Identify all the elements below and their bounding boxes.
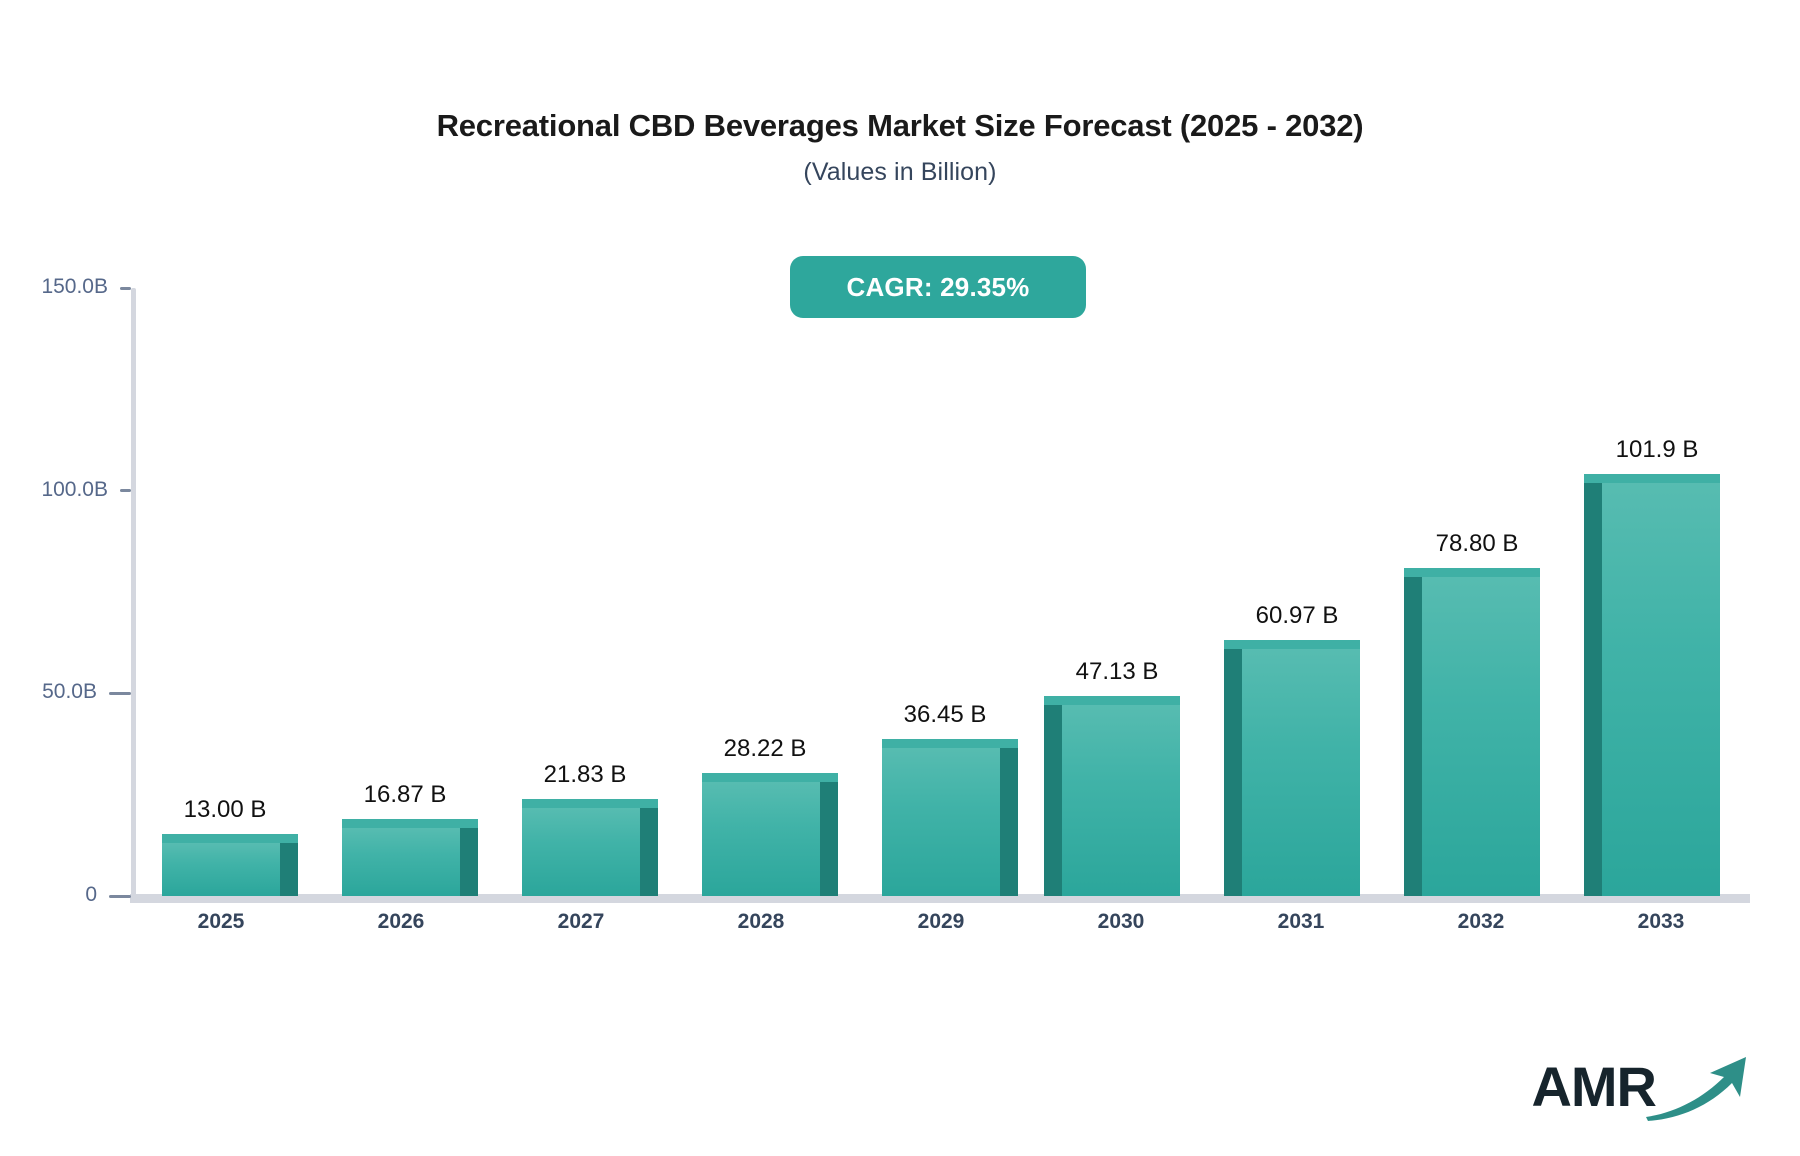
chart-title: Recreational CBD Beverages Market Size F… [0,108,1800,144]
bar-front-face [702,782,820,896]
bar-2030[interactable] [1062,705,1180,896]
chart-subtitle: (Values in Billion) [0,158,1800,187]
bar-2026[interactable] [342,828,460,896]
x-axis-label-2031: 2031 [1201,910,1401,934]
bar-front-face [1422,577,1540,896]
bar-front-face [882,748,1000,896]
bar-front-face [1062,705,1180,896]
bar-top-face [1224,640,1360,649]
bar-top-face [522,799,658,808]
bar-side-face [820,773,838,896]
bar-side-face [1000,739,1018,896]
x-axis-label-2027: 2027 [481,910,681,934]
bar-value-label: 47.13 B [987,658,1247,686]
y-axis-tick-label: 50.0B [42,680,97,704]
bar-front-face [1242,649,1360,896]
bar-side-face [280,834,298,896]
bar-value-label: 28.22 B [635,735,895,763]
x-axis-labels: 202520262027202820292030203120322033 [131,910,1751,950]
bar-front-face [522,808,640,896]
x-axis-label-2025: 2025 [121,910,321,934]
bar-top-face [1404,568,1540,577]
y-axis-tick-mark [109,692,131,695]
bar-2032[interactable] [1422,577,1540,896]
bar-2028[interactable] [702,782,820,896]
bar-side-face [640,799,658,896]
bar-2031[interactable] [1242,649,1360,896]
bar-top-face [702,773,838,782]
bar-front-face [342,828,460,896]
bar-value-label: 60.97 B [1167,602,1427,630]
amr-logo-text: AMR [1531,1059,1656,1115]
bar-value-label: 21.83 B [455,761,715,789]
x-axis-label-2032: 2032 [1381,910,1581,934]
bar-value-label: 101.9 B [1527,436,1787,464]
bar-front-face [1602,483,1720,896]
bar-value-label: 78.80 B [1347,530,1607,558]
bar-top-face [1044,696,1180,705]
y-axis-tick-mark [120,287,131,290]
amr-logo: AMR [1531,1050,1758,1124]
title-block: Recreational CBD Beverages Market Size F… [0,108,1800,187]
bar-value-label: 36.45 B [815,701,1075,729]
x-axis-label-2033: 2033 [1561,910,1761,934]
bar-side-face [460,819,478,896]
y-axis-tick-label: 0 [85,883,97,907]
bar-top-face [1584,474,1720,483]
x-axis-label-2030: 2030 [1021,910,1221,934]
bar-2025[interactable] [162,843,280,896]
bar-2027[interactable] [522,808,640,896]
bar-top-face [882,739,1018,748]
bar-top-face [162,834,298,843]
plot-area: 13.00 B16.87 B21.83 B28.22 B36.45 B47.13… [131,288,1751,896]
bar-side-face [1584,474,1602,896]
bar-side-face [1224,640,1242,896]
y-axis-tick-label: 100.0B [41,478,108,502]
bar-side-face [1044,696,1062,896]
y-axis-tick-label: 150.0B [41,275,108,299]
bars-layer: 13.00 B16.87 B21.83 B28.22 B36.45 B47.13… [131,288,1751,896]
y-axis-tick-mark [120,489,131,492]
bar-2029[interactable] [882,748,1000,896]
growth-arrow-icon [1640,1051,1758,1130]
y-axis-tick-mark [109,895,131,898]
bar-side-face [1404,568,1422,896]
x-axis-label-2028: 2028 [661,910,861,934]
chart-container: Recreational CBD Beverages Market Size F… [0,0,1800,1156]
x-axis-label-2026: 2026 [301,910,501,934]
x-axis-label-2029: 2029 [841,910,1041,934]
bar-2033[interactable] [1602,483,1720,896]
bar-top-face [342,819,478,828]
bar-front-face [162,843,280,896]
